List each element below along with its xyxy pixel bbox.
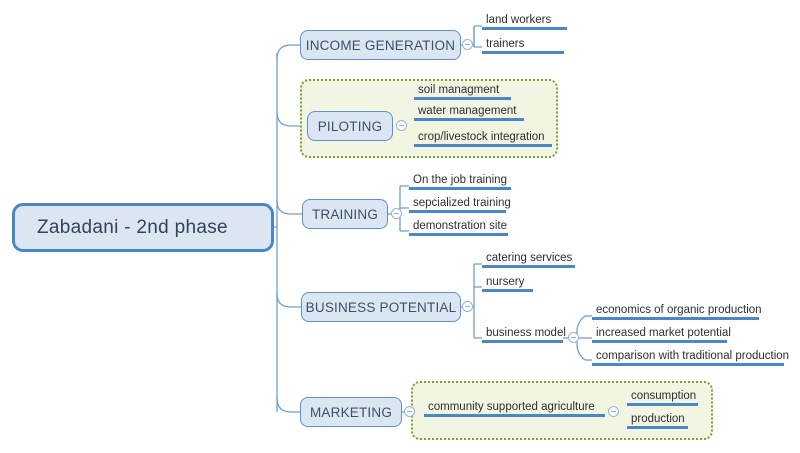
leaf-label: comparison with traditional production: [596, 350, 789, 362]
leaf-label: production: [631, 413, 685, 425]
leaf-label: consumption: [631, 390, 696, 402]
topic-node-business-potential[interactable]: BUSINESS POTENTIAL: [301, 292, 461, 322]
leaf-node[interactable]: comparison with traditional production: [592, 349, 784, 366]
leaf-node[interactable]: catering services: [482, 251, 575, 268]
leaf-label: demonstration site: [413, 220, 507, 232]
leaf-label: catering services: [486, 252, 572, 264]
mindmap-canvas: Zabadani - 2nd phase INCOME GENERATION l…: [0, 0, 800, 453]
leaf-label: water management: [418, 105, 516, 117]
collapse-minus-icon[interactable]: [404, 406, 415, 417]
leaf-label: community supported agriculture: [428, 401, 595, 413]
leaf-label: soil managment: [418, 84, 499, 96]
collapse-minus-icon[interactable]: [608, 406, 619, 417]
leaf-node[interactable]: economics of organic production: [592, 303, 759, 320]
leaf-label: business model: [486, 327, 566, 339]
collapse-minus-icon[interactable]: [462, 39, 473, 50]
leaf-node[interactable]: sepcialized training: [409, 196, 506, 213]
leaf-node[interactable]: community supported agriculture: [424, 400, 605, 417]
leaf-label: increased market potential: [596, 327, 731, 339]
leaf-node[interactable]: trainers: [482, 37, 564, 54]
leaf-node[interactable]: demonstration site: [409, 219, 508, 236]
collapse-minus-icon[interactable]: [391, 208, 402, 219]
collapse-minus-icon[interactable]: [568, 332, 579, 343]
leaf-node[interactable]: water management: [414, 104, 524, 121]
leaf-node[interactable]: consumption: [627, 389, 698, 406]
topic-label: BUSINESS POTENTIAL: [306, 300, 457, 315]
leaf-node[interactable]: soil managment: [414, 83, 511, 100]
topic-label: INCOME GENERATION: [306, 38, 455, 53]
topic-node-income-generation[interactable]: INCOME GENERATION: [300, 30, 461, 60]
leaf-node[interactable]: increased market potential: [592, 326, 727, 343]
leaf-label: sepcialized training: [413, 197, 511, 209]
leaf-node[interactable]: land workers: [482, 13, 567, 30]
topic-node-marketing[interactable]: MARKETING: [300, 397, 402, 427]
topic-label: TRAINING: [312, 207, 378, 222]
leaf-node[interactable]: nursery: [482, 275, 533, 292]
leaf-node[interactable]: crop/livestock integration: [414, 130, 552, 147]
leaf-label: economics of organic production: [596, 304, 762, 316]
leaf-node[interactable]: production: [627, 412, 688, 429]
root-node[interactable]: Zabadani - 2nd phase: [12, 203, 274, 252]
leaf-label: nursery: [486, 276, 524, 288]
leaf-node[interactable]: business model: [482, 326, 563, 343]
collapse-minus-icon[interactable]: [396, 120, 407, 131]
topic-label: PILOTING: [318, 119, 383, 134]
topic-node-piloting[interactable]: PILOTING: [307, 111, 393, 141]
collapse-minus-icon[interactable]: [462, 301, 473, 312]
topic-node-training[interactable]: TRAINING: [302, 199, 388, 229]
leaf-label: trainers: [486, 38, 524, 50]
leaf-label: land workers: [486, 14, 551, 26]
topic-label: MARKETING: [310, 405, 392, 420]
leaf-label: crop/livestock integration: [418, 131, 545, 143]
leaf-label: On the job training: [413, 174, 507, 186]
root-node-label: Zabadani - 2nd phase: [37, 217, 228, 239]
leaf-node[interactable]: On the job training: [409, 173, 511, 190]
